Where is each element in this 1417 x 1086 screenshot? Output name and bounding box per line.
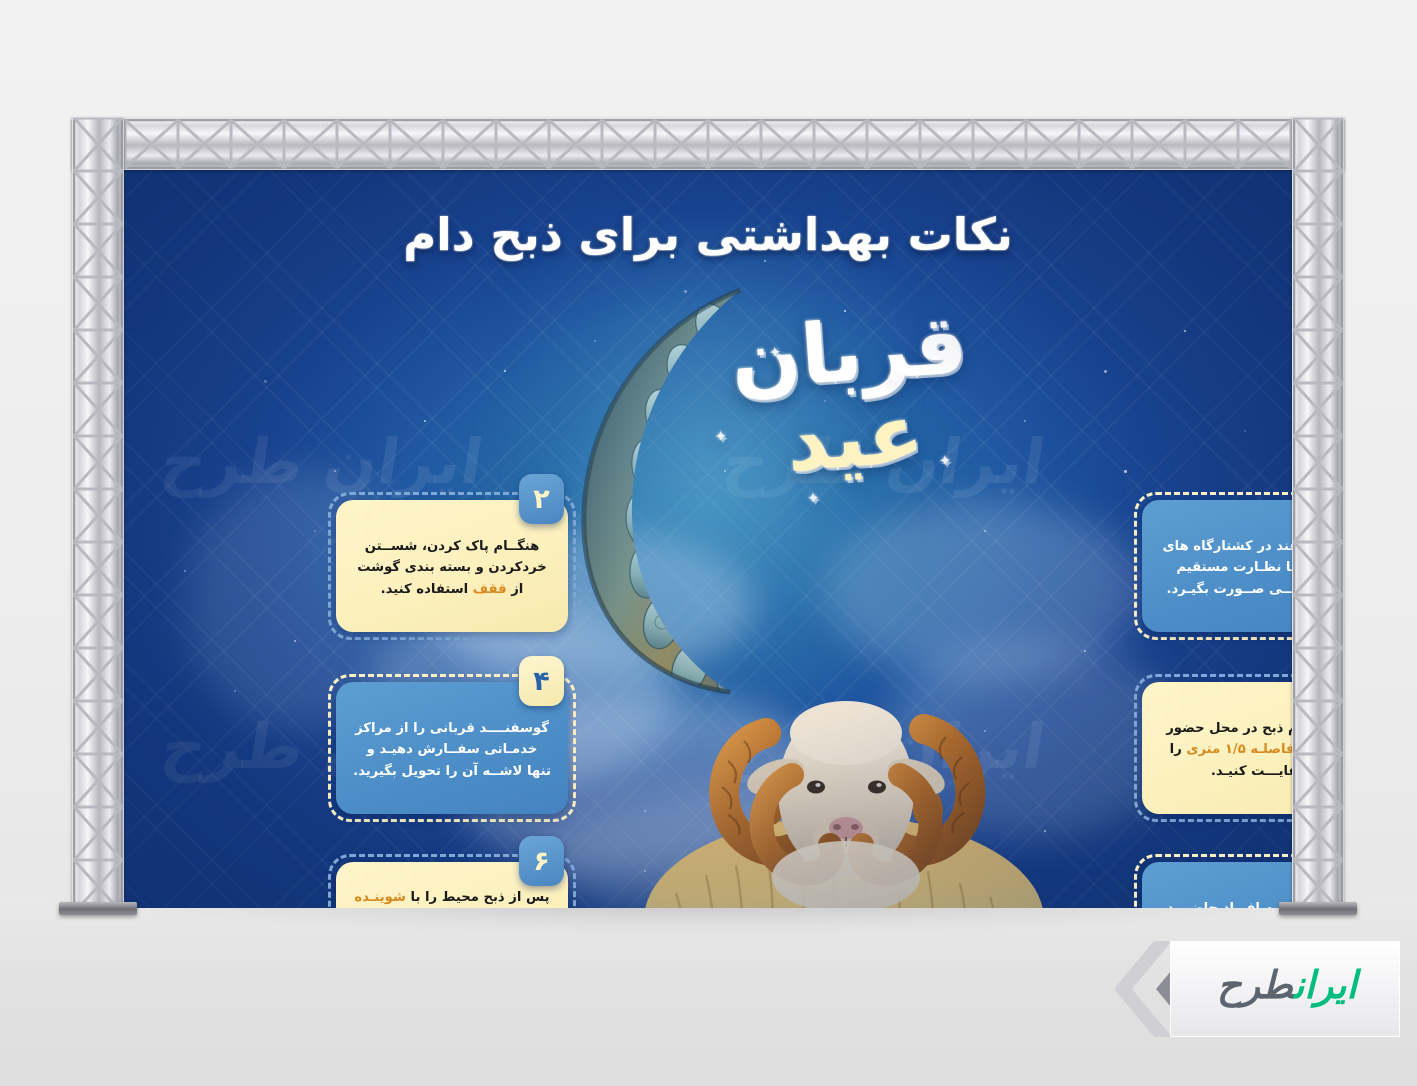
truss-right xyxy=(1292,118,1344,908)
info-card-6[interactable]: ۶ پس از ذبح محیط را با شوینـده بشوییـد و… xyxy=(336,862,568,908)
card-line: خدمـاتی سفــارش دهیـد و xyxy=(367,742,538,757)
card-text-5: قصـاب و همـه افـراد حاضـر در محـل حتــما… xyxy=(1142,862,1292,908)
card-text-highlight: فاصلـه ۱/۵ متری xyxy=(1186,742,1292,757)
card-badge-6: ۶ xyxy=(519,836,564,886)
truss-top xyxy=(72,118,1344,170)
card-text-pre: قصـاب و همـه افـراد حاضـر در محـل حتــما… xyxy=(1159,901,1292,908)
logo-dark-part: طرح xyxy=(1217,963,1294,1007)
logo[interactable]: ایرانطرح xyxy=(1110,935,1400,1045)
card-line: ذبح گوسفند در کشتارگاه های xyxy=(1163,539,1292,554)
card-text-3: اگر هنگام ذبح در محل حضور داشتیـد فاصلـه… xyxy=(1142,682,1292,814)
card-text-1: ذبح گوسفند در کشتارگاه های مجـاز بـا نظـ… xyxy=(1142,500,1292,632)
info-card-4[interactable]: ۴ گوسفنــــد قربانی را از مراکز خدمـاتی … xyxy=(336,682,568,814)
card-line: مجـاز بـا نظـارت مستقیم xyxy=(1176,560,1292,575)
info-card-1[interactable]: ۱ ذبح گوسفند در کشتارگاه های مجـاز بـا ن… xyxy=(1142,500,1292,632)
info-card-5[interactable]: ۵ قصـاب و همـه افـراد حاضـر در محـل حتــ… xyxy=(1142,862,1292,908)
truss-foot-right xyxy=(1279,902,1357,915)
banner-artwork: ایران طرح ایران طرح ایران طرح ایران طرح xyxy=(124,170,1292,908)
logo-text: ایرانطرح xyxy=(1182,963,1392,1007)
truss-bracing-icon xyxy=(72,118,124,908)
cards-container: ۱ ذبح گوسفند در کشتارگاه های مجـاز بـا ن… xyxy=(124,170,1292,908)
truss-foot-left xyxy=(59,902,137,915)
card-line: دامپزشکـــی صــورت بگیـرد. xyxy=(1166,582,1292,597)
card-text-post: استفاده کنید. xyxy=(381,582,473,597)
truss-bracing-icon xyxy=(72,118,1344,170)
logo-green-part: ایران xyxy=(1294,963,1357,1007)
card-badge-2: ۲ xyxy=(519,474,564,524)
info-card-2[interactable]: ۲ هنگــام پاک کردن، شســتن خردکردن و بست… xyxy=(336,500,568,632)
card-text-highlight: ققف xyxy=(473,582,507,597)
truss-left xyxy=(72,118,124,908)
info-card-3[interactable]: ۳ اگر هنگام ذبح در محل حضور داشتیـد فاصل… xyxy=(1142,682,1292,814)
stage: ایران طرح ایران طرح ایران طرح ایران طرح xyxy=(0,0,1417,1086)
card-text-pre: پس از ذبح محیط را با xyxy=(406,890,550,905)
card-line: گوسفنــــد قربانی را از مراکز xyxy=(355,721,549,736)
card-badge-4: ۴ xyxy=(519,656,564,706)
truss-bracing-icon xyxy=(1292,118,1344,908)
card-line: تنها لاشــه آن را تحویل بگیرید. xyxy=(353,764,551,779)
